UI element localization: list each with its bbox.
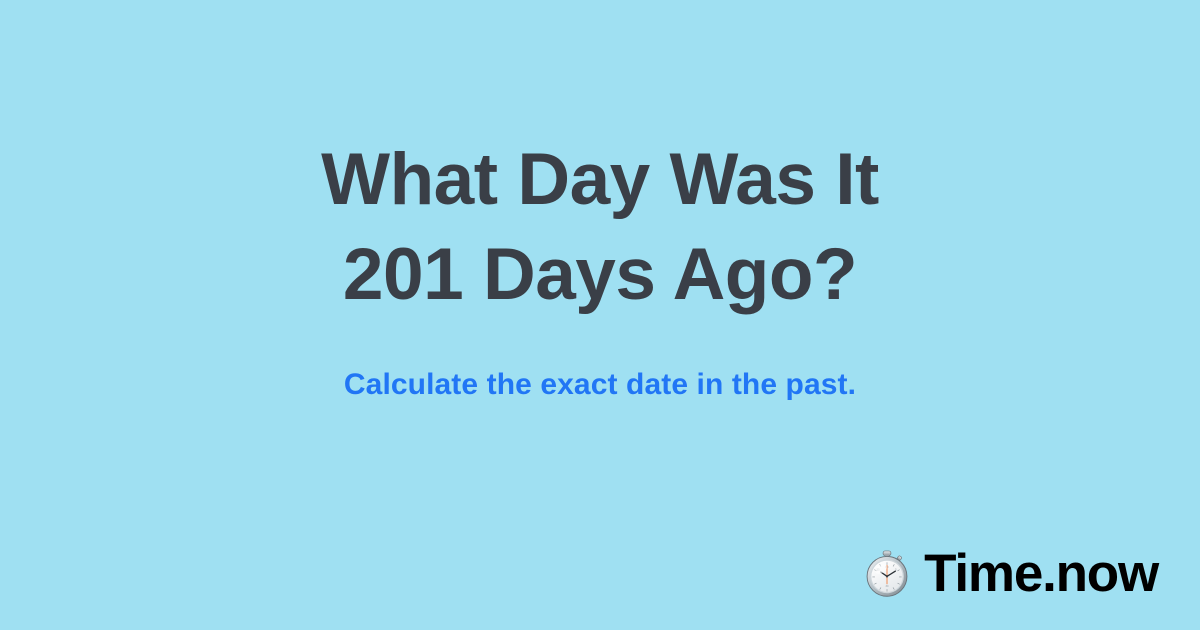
stopwatch-icon: 60 5 30 55 <box>862 549 912 599</box>
page-title-line-2: 201 Days Ago? <box>0 227 1200 322</box>
brand-name: Time.now <box>924 547 1158 600</box>
page-title: What Day Was It 201 Days Ago? <box>0 132 1200 322</box>
social-share-card: What Day Was It 201 Days Ago? Calculate … <box>0 0 1200 630</box>
brand-logo[interactable]: 60 5 30 55 Time.now <box>862 547 1158 600</box>
hero-text-block: What Day Was It 201 Days Ago? Calculate … <box>0 132 1200 403</box>
page-subtitle: Calculate the exact date in the past. <box>0 322 1200 403</box>
page-title-line-1: What Day Was It <box>0 132 1200 227</box>
